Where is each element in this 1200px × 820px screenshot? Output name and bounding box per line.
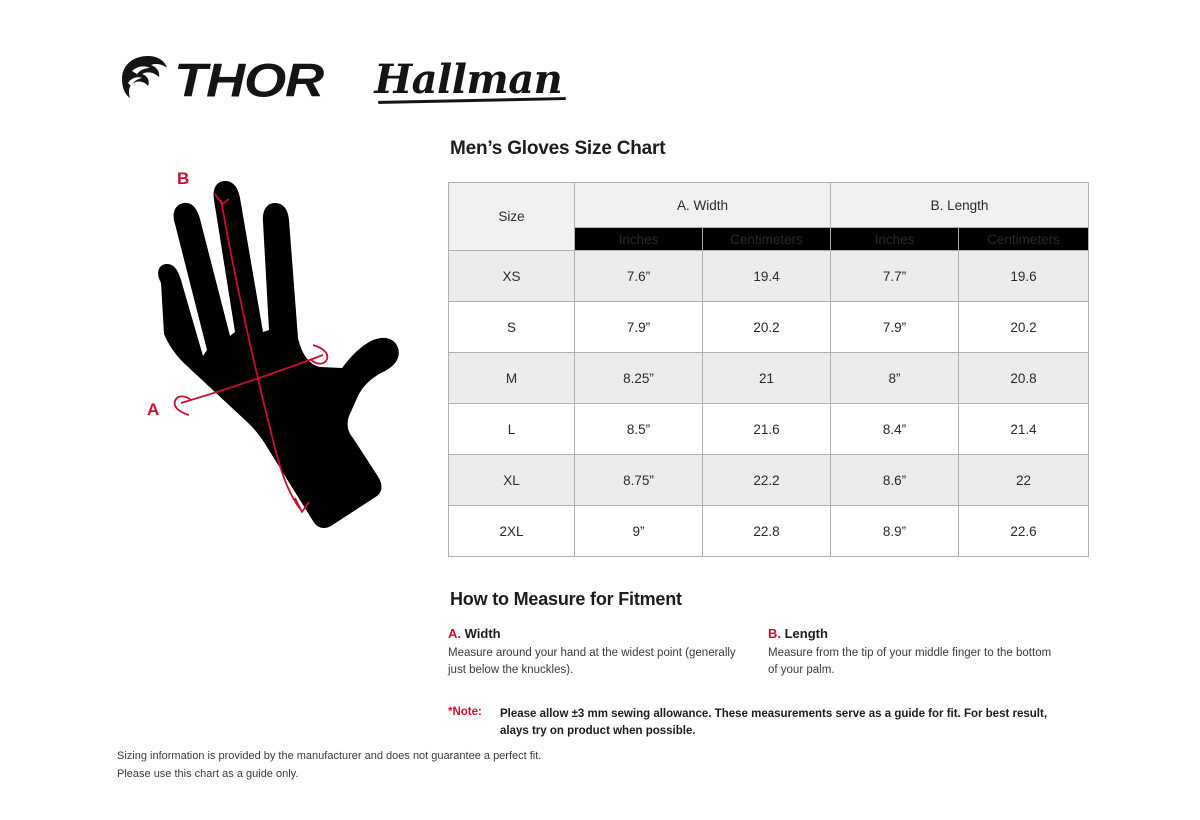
footer-line-1: Sizing information is provided by the ma…	[117, 748, 541, 766]
cell-length-inches: 8.4”	[831, 404, 959, 455]
cell-width-centimeters: 21	[703, 353, 831, 404]
width-arrow-a-head-left	[175, 396, 191, 415]
cell-length-centimeters: 21.4	[959, 404, 1089, 455]
footer-line-2: Please use this chart as a guide only.	[117, 766, 541, 784]
note-text: Please allow ±3 mm sewing allowance. The…	[500, 706, 1060, 739]
cell-length-inches: 8.9”	[831, 506, 959, 557]
how-to-measure-columns: A. Width Measure around your hand at the…	[448, 626, 1088, 678]
table-head: Size A. Width B. Length Inches Centimete…	[449, 183, 1089, 251]
width-arrow-a-head-right	[311, 345, 327, 364]
hand-silhouette	[158, 181, 399, 528]
cell-width-inches: 9”	[575, 506, 703, 557]
cell-length-centimeters: 20.8	[959, 353, 1089, 404]
cell-size: L	[449, 404, 575, 455]
measure-item-length-heading: B. Length	[768, 626, 1058, 641]
cell-length-centimeters: 22.6	[959, 506, 1089, 557]
cell-size: S	[449, 302, 575, 353]
table-row: L 8.5” 21.6 8.4” 21.4	[449, 404, 1089, 455]
cell-size: XS	[449, 251, 575, 302]
table-header-row-groups: Size A. Width B. Length	[449, 183, 1089, 228]
cell-width-inches: 8.75”	[575, 455, 703, 506]
table-row: XL 8.75” 22.2 8.6” 22	[449, 455, 1089, 506]
cell-width-inches: 8.25”	[575, 353, 703, 404]
diagram-label-b: B	[177, 169, 189, 188]
measure-letter-b: B.	[768, 626, 781, 641]
table-row: XS 7.6” 19.4 7.7” 19.6	[449, 251, 1089, 302]
footer-disclaimer: Sizing information is provided by the ma…	[117, 748, 541, 783]
cell-width-inches: 7.9”	[575, 302, 703, 353]
column-header-length: B. Length	[831, 183, 1089, 228]
note-row: *Note: Please allow ±3 mm sewing allowan…	[448, 706, 1088, 739]
cell-length-centimeters: 20.2	[959, 302, 1089, 353]
brand-logo-bar: THOR Hallman	[118, 50, 518, 110]
measure-item-width: A. Width Measure around your hand at the…	[448, 626, 768, 678]
measure-letter-a: A.	[448, 626, 461, 641]
size-chart-content: Men’s Gloves Size Chart Size A. Width B.…	[448, 138, 1088, 740]
column-header-length-inches: Inches	[831, 228, 959, 251]
column-header-length-centimeters: Centimeters	[959, 228, 1089, 251]
measure-item-length: B. Length Measure from the tip of your m…	[768, 626, 1088, 678]
how-to-measure-section: How to Measure for Fitment A. Width Meas…	[448, 589, 1088, 678]
thor-wordmark: THOR	[174, 57, 323, 104]
cell-width-centimeters: 20.2	[703, 302, 831, 353]
cell-length-centimeters: 19.6	[959, 251, 1089, 302]
measure-item-length-body: Measure from the tip of your middle fing…	[768, 645, 1058, 678]
table-body: XS 7.6” 19.4 7.7” 19.6 S 7.9” 20.2 7.9” …	[449, 251, 1089, 557]
measure-name-width: Width	[461, 626, 501, 641]
table-row: 2XL 9” 22.8 8.9” 22.6	[449, 506, 1089, 557]
cell-length-inches: 7.9”	[831, 302, 959, 353]
measure-item-width-heading: A. Width	[448, 626, 738, 641]
diagram-label-a: A	[147, 400, 159, 419]
size-chart-table: Size A. Width B. Length Inches Centimete…	[448, 182, 1089, 557]
cell-size: 2XL	[449, 506, 575, 557]
cell-width-inches: 7.6”	[575, 251, 703, 302]
cell-width-centimeters: 22.2	[703, 455, 831, 506]
cell-size: M	[449, 353, 575, 404]
hallman-logo: Hallman	[374, 60, 562, 100]
cell-width-centimeters: 22.8	[703, 506, 831, 557]
measure-name-length: Length	[781, 626, 828, 641]
cell-width-centimeters: 19.4	[703, 251, 831, 302]
hand-measurement-diagram: B A	[115, 160, 435, 560]
cell-width-centimeters: 21.6	[703, 404, 831, 455]
thor-logo: THOR	[118, 53, 300, 108]
cell-length-inches: 8”	[831, 353, 959, 404]
column-header-width: A. Width	[575, 183, 831, 228]
column-header-size: Size	[449, 183, 575, 251]
column-header-width-centimeters: Centimeters	[703, 228, 831, 251]
table-row: M 8.25” 21 8” 20.8	[449, 353, 1089, 404]
page-title: Men’s Gloves Size Chart	[450, 138, 1088, 160]
table-row: S 7.9” 20.2 7.9” 20.2	[449, 302, 1089, 353]
cell-length-inches: 7.7”	[831, 251, 959, 302]
cell-length-centimeters: 22	[959, 455, 1089, 506]
cell-size: XL	[449, 455, 575, 506]
how-to-measure-title: How to Measure for Fitment	[450, 589, 1088, 610]
column-header-width-inches: Inches	[575, 228, 703, 251]
cell-width-inches: 8.5”	[575, 404, 703, 455]
cell-length-inches: 8.6”	[831, 455, 959, 506]
thor-helmet-icon	[118, 53, 170, 108]
measure-item-width-body: Measure around your hand at the widest p…	[448, 645, 738, 678]
note-label: *Note:	[448, 706, 500, 718]
